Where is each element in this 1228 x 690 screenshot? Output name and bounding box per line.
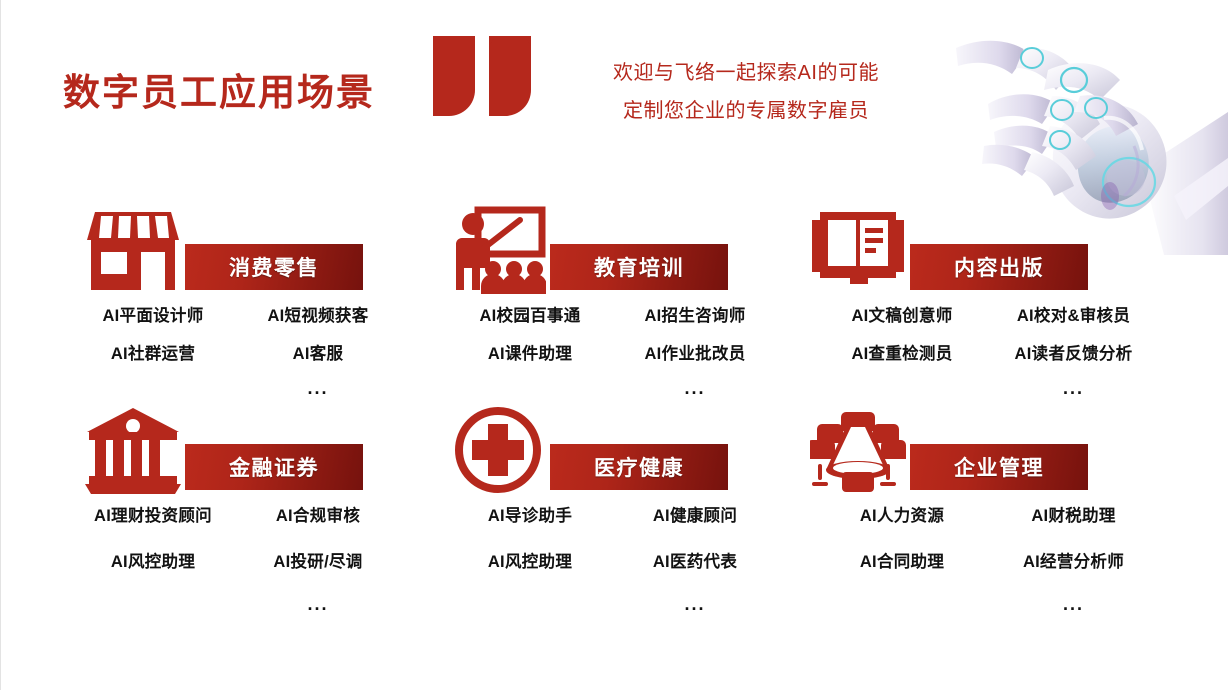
list-item[interactable]: AI查重检测员 <box>818 340 986 364</box>
card-label-banner: 金融证券 <box>185 444 363 490</box>
card-label-banner: 内容出版 <box>910 244 1088 290</box>
more-indicator: ... <box>233 378 403 399</box>
list-item[interactable]: AI导诊助手 <box>450 502 610 526</box>
card-label-banner: 消费零售 <box>185 244 363 290</box>
card-header: 金融证券 <box>73 398 438 493</box>
conference-table-icon <box>810 406 906 494</box>
open-book-icon <box>810 206 906 294</box>
list-item[interactable]: AI文稿创意师 <box>818 302 986 326</box>
scenario-card-grid: 消费零售 AI平面设计师 AI短视频获客 AI社群运营 AI客服 ... <box>73 198 1163 613</box>
card-header: 医疗健康 <box>438 398 798 493</box>
list-item[interactable]: AI社群运营 <box>73 340 233 364</box>
list-item[interactable]: AI人力资源 <box>818 502 986 526</box>
list-item[interactable]: AI理财投资顾问 <box>73 502 233 526</box>
card-consumer-retail[interactable]: 消费零售 AI平面设计师 AI短视频获客 AI社群运营 AI客服 ... <box>73 198 438 398</box>
list-item[interactable]: AI作业批改员 <box>610 340 780 364</box>
list-item[interactable]: AI合规审核 <box>233 502 403 526</box>
card-item-list: AI文稿创意师 AI校对&审核员 AI查重检测员 AI读者反馈分析 ... <box>818 302 1148 399</box>
card-header: 内容出版 <box>798 198 1178 293</box>
list-item[interactable]: AI医药代表 <box>610 548 780 572</box>
list-item[interactable]: AI校对&审核员 <box>986 302 1161 326</box>
bank-building-icon <box>85 406 181 494</box>
quote-mark-icon <box>433 36 543 126</box>
tagline-line-1: 欢迎与飞络一起探索AI的可能 <box>576 54 916 92</box>
list-item[interactable]: AI课件助理 <box>450 340 610 364</box>
card-label-banner: 医疗健康 <box>550 444 728 490</box>
list-item[interactable]: AI合同助理 <box>818 548 986 572</box>
card-education-training[interactable]: 教育培训 AI校园百事通 AI招生咨询师 AI课件助理 AI作业批改员 ... <box>438 198 798 398</box>
teacher-whiteboard-icon <box>450 206 546 294</box>
card-label-banner: 企业管理 <box>910 444 1088 490</box>
list-item[interactable]: AI风控助理 <box>73 548 233 572</box>
more-indicator: ... <box>610 594 780 615</box>
more-indicator: ... <box>986 594 1161 615</box>
list-item[interactable]: AI健康顾问 <box>610 502 780 526</box>
list-item[interactable]: AI经营分析师 <box>986 548 1161 572</box>
card-header: 教育培训 <box>438 198 798 293</box>
card-medical-health[interactable]: 医疗健康 AI导诊助手 AI健康顾问 AI风控助理 AI医药代表 ... <box>438 398 798 613</box>
more-indicator: ... <box>233 594 403 615</box>
medical-cross-icon <box>450 406 546 494</box>
tagline-line-2: 定制您企业的专属数字雇员 <box>576 92 916 130</box>
list-item[interactable]: AI客服 <box>233 340 403 364</box>
card-header: 消费零售 <box>73 198 438 293</box>
card-content-publishing[interactable]: 内容出版 AI文稿创意师 AI校对&审核员 AI查重检测员 AI读者反馈分析 .… <box>798 198 1178 398</box>
tagline: 欢迎与飞络一起探索AI的可能 定制您企业的专属数字雇员 <box>576 54 916 130</box>
card-enterprise-management[interactable]: 企业管理 AI人力资源 AI财税助理 AI合同助理 AI经营分析师 ... <box>798 398 1178 613</box>
page-title: 数字员工应用场景 <box>63 62 375 116</box>
storefront-icon <box>85 206 181 294</box>
list-item[interactable]: AI财税助理 <box>986 502 1161 526</box>
list-item[interactable]: AI风控助理 <box>450 548 610 572</box>
card-item-list: AI平面设计师 AI短视频获客 AI社群运营 AI客服 ... <box>73 302 403 399</box>
card-finance-securities[interactable]: 金融证券 AI理财投资顾问 AI合规审核 AI风控助理 AI投研/尽调 ... <box>73 398 438 613</box>
list-item[interactable]: AI平面设计师 <box>73 302 233 326</box>
more-indicator: ... <box>986 378 1161 399</box>
card-item-list: AI导诊助手 AI健康顾问 AI风控助理 AI医药代表 ... <box>450 502 780 615</box>
card-header: 企业管理 <box>798 398 1178 493</box>
more-indicator: ... <box>610 378 780 399</box>
card-item-list: AI校园百事通 AI招生咨询师 AI课件助理 AI作业批改员 ... <box>450 302 780 399</box>
list-item[interactable]: AI短视频获客 <box>233 302 403 326</box>
list-item[interactable]: AI招生咨询师 <box>610 302 780 326</box>
card-item-list: AI理财投资顾问 AI合规审核 AI风控助理 AI投研/尽调 ... <box>73 502 403 615</box>
card-item-list: AI人力资源 AI财税助理 AI合同助理 AI经营分析师 ... <box>818 502 1148 615</box>
card-label-banner: 教育培训 <box>550 244 728 290</box>
list-item[interactable]: AI投研/尽调 <box>233 548 403 572</box>
list-item[interactable]: AI读者反馈分析 <box>986 340 1161 364</box>
list-item[interactable]: AI校园百事通 <box>450 302 610 326</box>
